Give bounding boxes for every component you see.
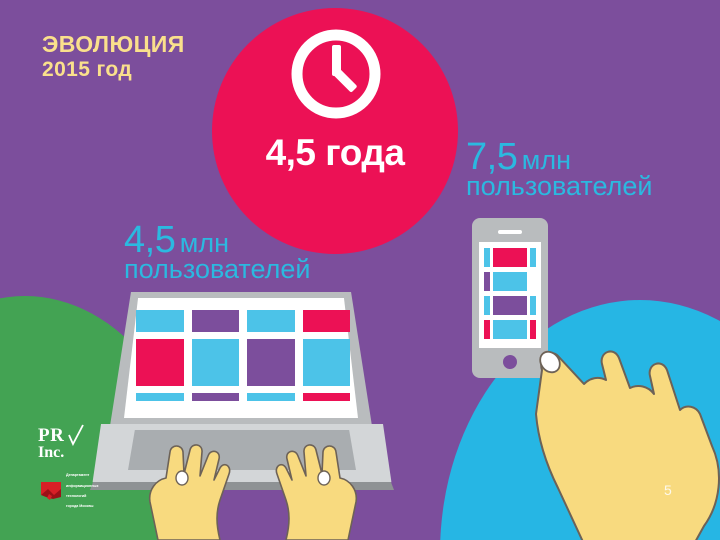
laptop-screen-cell bbox=[247, 339, 295, 386]
clock-icon bbox=[288, 26, 384, 122]
smartphone-screen-cell bbox=[530, 272, 536, 291]
dit-mark-icon bbox=[40, 480, 62, 502]
checkmark-icon bbox=[68, 424, 84, 446]
laptop-screen-cell bbox=[192, 339, 240, 386]
laptop-screen-row bbox=[136, 393, 350, 401]
logo-pr-inc: PR Inc. bbox=[38, 428, 64, 460]
smartphone-speaker bbox=[498, 230, 522, 234]
headline-line-2: 2015 год bbox=[42, 58, 185, 82]
smartphone-screen-cell bbox=[493, 272, 527, 291]
laptop-screen-row bbox=[136, 310, 350, 332]
headline-line-1: ЭВОЛЮЦИЯ bbox=[42, 32, 185, 58]
smartphone-screen-cell bbox=[530, 248, 536, 267]
smartphone-screen-cell bbox=[484, 320, 490, 339]
smartphone-screen-cell bbox=[484, 296, 490, 315]
logo-dit-text: Департамент информационных технологий го… bbox=[66, 468, 98, 515]
highlight-circle-label: 4,5 года bbox=[212, 132, 458, 174]
laptop-screen-cell bbox=[303, 310, 351, 332]
laptop-screen-cell bbox=[136, 310, 184, 332]
stat-laptop-subject: пользователей bbox=[124, 256, 310, 282]
logo-dit-line-1: Департамент bbox=[66, 473, 98, 478]
laptop-screen-cell bbox=[247, 310, 295, 332]
laptop-screen-row bbox=[136, 339, 350, 386]
laptop-screen-cell bbox=[192, 393, 240, 401]
logo-dit-moscow: Департамент информационных технологий го… bbox=[40, 468, 98, 515]
logo-dit-line-3: технологий bbox=[66, 494, 98, 499]
smartphone-screen-cell bbox=[530, 296, 536, 315]
headline: ЭВОЛЮЦИЯ 2015 год bbox=[42, 32, 185, 81]
laptop-screen-cell bbox=[303, 393, 351, 401]
stat-phone-caption: 7,5 млн пользователей bbox=[466, 139, 652, 200]
smartphone-screen-row bbox=[484, 296, 536, 315]
laptop-screen-cell bbox=[247, 393, 295, 401]
smartphone-screen-cell bbox=[484, 248, 490, 267]
logo-dit-line-2: информационных bbox=[66, 484, 98, 489]
laptop-screen-cell bbox=[136, 393, 184, 401]
laptop-screen-cell bbox=[136, 339, 184, 386]
smartphone-screen-cell bbox=[493, 248, 527, 267]
page-number: 5 bbox=[664, 482, 673, 498]
smartphone-screen-cell bbox=[493, 296, 527, 315]
logo-pr-top: PR bbox=[38, 425, 64, 446]
laptop-screen-cell bbox=[303, 339, 351, 386]
stat-phone-subject: пользователей bbox=[466, 173, 652, 199]
smartphone-screen-cell bbox=[484, 272, 490, 291]
smartphone-screen-row bbox=[484, 248, 536, 267]
stat-laptop-caption: 4,5 млн пользователей bbox=[124, 222, 310, 283]
laptop-screen-content bbox=[136, 310, 350, 406]
laptop-screen-cell bbox=[192, 310, 240, 332]
logo-pr-bottom: Inc. bbox=[38, 446, 64, 460]
pointing-hand bbox=[498, 318, 720, 540]
right-hand-typing bbox=[236, 424, 386, 540]
smartphone-screen-row bbox=[484, 272, 536, 291]
logo-dit-line-4: города Москвы bbox=[66, 504, 98, 509]
infographic-slide: ЭВОЛЮЦИЯ 2015 год 4,5 года 4,5 млн польз… bbox=[0, 0, 720, 540]
